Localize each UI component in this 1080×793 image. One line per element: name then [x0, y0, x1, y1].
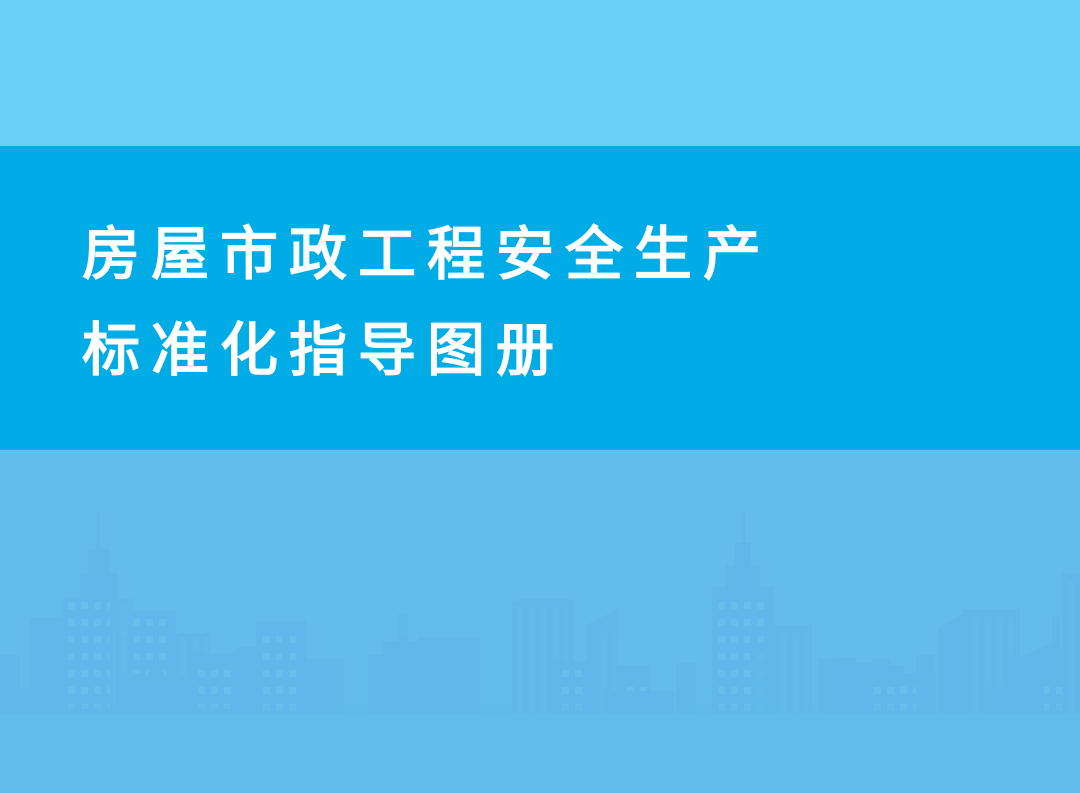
- cover-slide: 房屋市政工程安全生产 标准化指导图册: [0, 0, 1080, 793]
- city-skyline-icon: [0, 513, 1080, 793]
- background-band-top: [0, 0, 1080, 146]
- page-title: 房屋市政工程安全生产 标准化指导图册: [82, 206, 842, 398]
- page-title-line-2: 标准化指导图册: [82, 302, 842, 398]
- page-title-line-1: 房屋市政工程安全生产: [82, 206, 842, 302]
